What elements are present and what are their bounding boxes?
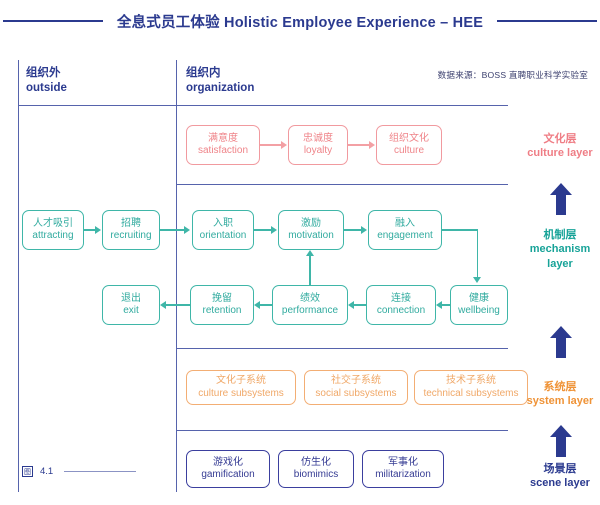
mechanism-layer-divider [176,348,508,349]
node-technical-subsystems-en: technical subsystems [423,388,518,401]
connector-performance-motivation [309,256,311,285]
connector-recruiting-orientation [160,229,185,231]
arrowhead-connection-performance [348,301,354,309]
layer-label-mechanism-en1: mechanism [512,242,600,256]
node-satisfaction-en: satisfaction [198,145,248,158]
layer-label-system-cn: 系统层 [512,380,600,394]
arrowhead-wellbeing-connection [436,301,442,309]
node-connection-cn: 连接 [391,293,411,306]
connector-retention-exit [166,304,190,306]
node-performance-en: performance [282,305,338,318]
outer-left-divider [18,60,19,492]
node-social-subsystems-cn: 社交子系统 [331,375,381,388]
connector-engagement-wellbeing-horizontal [442,229,478,231]
layer-label-scene-en: scene layer [512,476,600,490]
arrowhead-performance-motivation [306,250,314,256]
node-recruiting-en: recruiting [110,230,151,243]
arrowhead-motivation-engagement [361,226,367,234]
node-orientation-en: orientation [200,230,247,243]
node-militarization-cn: 军事化 [388,457,418,470]
arrowhead-engagement-wellbeing [473,277,481,283]
node-motivation[interactable]: 激励 motivation [278,210,344,250]
node-loyalty-en: loyalty [304,145,332,158]
arrowhead-performance-retention [254,301,260,309]
node-militarization[interactable]: 军事化 militarization [362,450,444,488]
connector-satisfaction-loyalty [260,144,282,146]
node-retention[interactable]: 挽留 retention [190,285,254,325]
node-retention-cn: 挽留 [212,293,232,306]
node-gamification-cn: 游戏化 [213,457,243,470]
title-bar: 全息式员工体验 Holistic Employee Experience – H… [0,8,600,34]
layer-label-scene-cn: 场景层 [512,462,600,476]
node-exit-cn: 退出 [121,293,141,306]
system-layer-divider [176,430,508,431]
node-recruiting[interactable]: 招聘 recruiting [102,210,160,250]
layer-label-scene: 场景层 scene layer [512,462,600,491]
node-social-subsystems[interactable]: 社交子系统 social subsystems [304,370,408,405]
column-header-outside-cn: 组织外 [26,66,67,81]
node-satisfaction-cn: 满意度 [208,133,238,146]
node-connection-en: connection [377,305,425,318]
connector-loyalty-culture [348,144,370,146]
node-gamification-en: gamification [201,469,254,482]
organization-divider [176,60,177,492]
node-wellbeing-cn: 健康 [469,293,489,306]
node-connection[interactable]: 连接 connection [366,285,436,325]
node-attracting-cn: 人才吸引 [33,218,73,231]
column-header-organization: 组织内 organization [186,66,254,96]
arrowhead-orientation-motivation [271,226,277,234]
title-rule-right [497,20,597,22]
layer-label-system: 系统层 system layer [512,380,600,409]
node-performance-cn: 绩效 [300,293,320,306]
layer-label-mechanism-cn: 机制层 [512,228,600,242]
connector-motivation-engagement [344,229,362,231]
node-gamification[interactable]: 游戏化 gamification [186,450,270,488]
node-biomimics-cn: 仿生化 [301,457,331,470]
node-loyalty[interactable]: 忠诚度 loyalty [288,125,348,165]
layer-label-culture-cn: 文化层 [512,132,600,146]
connector-engagement-wellbeing-vertical [477,229,479,279]
node-wellbeing-en: wellbeing [458,305,500,318]
node-technical-subsystems-cn: 技术子系统 [446,375,496,388]
node-orientation-cn: 入职 [213,218,233,231]
node-technical-subsystems[interactable]: 技术子系统 technical subsystems [414,370,528,405]
node-wellbeing[interactable]: 健康 wellbeing [450,285,508,325]
node-retention-en: retention [203,305,242,318]
figure-badge-icon: 图 [22,466,33,477]
figure-number: 4.1 [40,466,53,477]
node-biomimics[interactable]: 仿生化 biomimics [278,450,354,488]
node-satisfaction[interactable]: 满意度 satisfaction [186,125,260,165]
arrowhead-retention-exit [160,301,166,309]
node-motivation-en: motivation [288,230,334,243]
node-engagement-cn: 融入 [395,218,415,231]
node-biomimics-en: biomimics [294,469,338,482]
up-arrow-system [549,325,573,359]
node-organizational-culture-en: culture [394,145,424,158]
layer-label-culture-en: culture layer [512,146,600,160]
node-culture-subsystems-en: culture subsystems [198,388,284,401]
title-rule-left [3,20,103,22]
figure-caption-rule [64,471,136,472]
up-arrow-mechanism [549,182,573,216]
up-arrow-scene [549,424,573,458]
arrowhead-recruiting-orientation [184,226,190,234]
node-exit-en: exit [123,305,139,318]
layer-label-mechanism-en2: layer [512,257,600,271]
header-underline [18,105,508,106]
layer-label-mechanism: 机制层 mechanism layer [512,228,600,271]
node-attracting-en: attracting [32,230,73,243]
layer-label-system-en: system layer [512,394,600,408]
arrowhead-attracting-recruiting [95,226,101,234]
data-source-note: 数据来源：BOSS 直聘职业科学实验室 [438,69,588,81]
node-militarization-en: militarization [375,469,431,482]
column-header-outside-en: outside [26,81,67,96]
figure-caption: 图 4.1 [22,466,136,477]
layer-label-culture: 文化层 culture layer [512,132,600,161]
culture-layer-divider [176,184,508,185]
node-social-subsystems-en: social subsystems [315,388,396,401]
node-organizational-culture[interactable]: 组织文化 culture [376,125,442,165]
connector-orientation-motivation [254,229,272,231]
node-engagement-en: engagement [377,230,433,243]
node-orientation[interactable]: 入职 orientation [192,210,254,250]
node-organizational-culture-cn: 组织文化 [389,133,429,146]
node-attracting[interactable]: 人才吸引 attracting [22,210,84,250]
node-performance[interactable]: 绩效 performance [272,285,348,325]
column-header-organization-cn: 组织内 [186,66,254,81]
column-header-organization-en: organization [186,81,254,96]
node-culture-subsystems-cn: 文化子系统 [216,375,266,388]
node-engagement[interactable]: 融入 engagement [368,210,442,250]
arrowhead-loyalty-culture [369,141,375,149]
diagram-canvas: 全息式员工体验 Holistic Employee Experience – H… [0,0,600,505]
node-motivation-cn: 激励 [301,218,321,231]
node-culture-subsystems[interactable]: 文化子系统 culture subsystems [186,370,296,405]
node-exit[interactable]: 退出 exit [102,285,160,325]
node-loyalty-cn: 忠诚度 [303,133,333,146]
page-title: 全息式员工体验 Holistic Employee Experience – H… [117,11,483,32]
column-header-outside: 组织外 outside [26,66,67,96]
node-recruiting-cn: 招聘 [121,218,141,231]
arrowhead-satisfaction-loyalty [281,141,287,149]
